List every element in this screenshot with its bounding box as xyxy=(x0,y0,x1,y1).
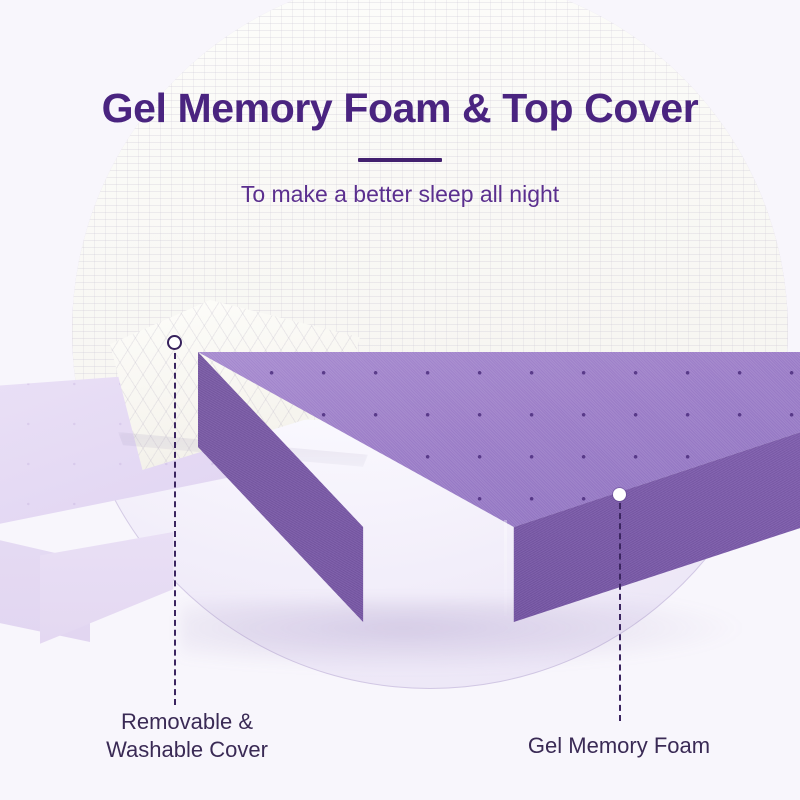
callout-label-foam: Gel Memory Foam xyxy=(439,732,799,760)
product-infographic: Gel Memory Foam & Top Cover To make a be… xyxy=(0,0,800,800)
page-subtitle: To make a better sleep all night xyxy=(0,181,800,209)
callout-marker-dot-icon[interactable] xyxy=(613,488,626,501)
foam-corner-highlight xyxy=(504,520,507,616)
gel-memory-foam-slab xyxy=(198,352,800,622)
callout-label-cover: Removable & Washable Cover xyxy=(7,708,367,764)
headline-block: Gel Memory Foam & Top Cover To make a be… xyxy=(0,86,800,209)
title-divider-rule xyxy=(358,158,442,162)
callout-leader-line-cover xyxy=(174,353,176,705)
callout-marker-ring-icon[interactable] xyxy=(167,335,182,350)
page-title: Gel Memory Foam & Top Cover xyxy=(0,86,800,130)
callout-leader-line-foam xyxy=(619,503,621,721)
